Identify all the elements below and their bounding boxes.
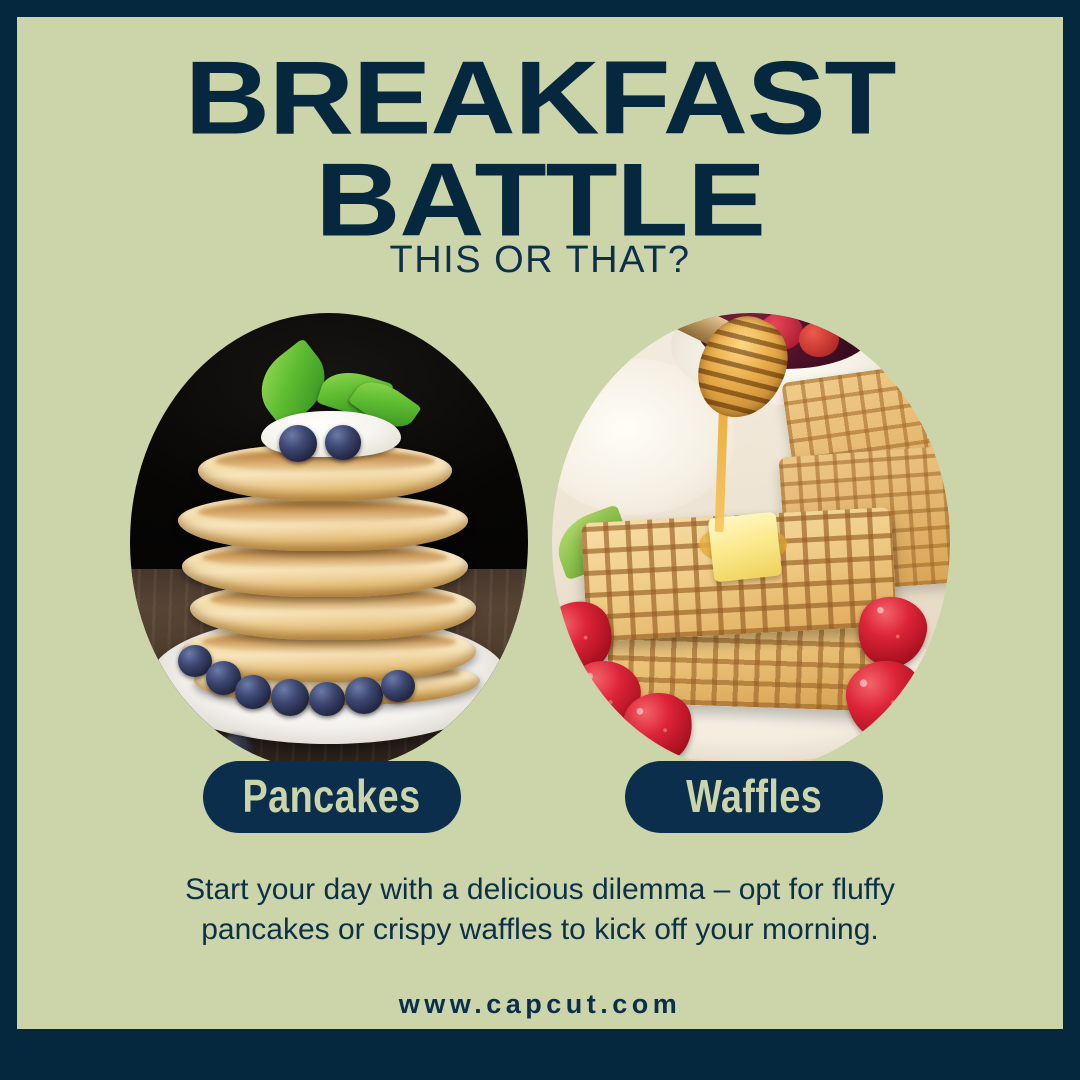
website-url: www.capcut.com (17, 989, 1063, 1020)
pancakes-label-text: Pancakes (243, 771, 421, 824)
pancakes-label-pill[interactable]: Pancakes (203, 761, 461, 833)
pancake-layer (178, 494, 469, 551)
blueberry (309, 682, 345, 716)
blueberry (325, 425, 361, 459)
blueberry (279, 425, 317, 462)
waffles-label-text: Waffles (686, 771, 822, 824)
poster-canvas: BREAKFAST BATTLE THIS OR THAT? (0, 0, 1080, 1080)
blueberry (345, 677, 383, 714)
waffles-label-pill[interactable]: Waffles (625, 761, 883, 833)
blueberry (381, 670, 415, 702)
pancakes-photo (130, 313, 528, 771)
headline: BREAKFAST BATTLE (17, 55, 1063, 246)
blueberry (271, 679, 309, 716)
headline-line-2: BATTLE (17, 154, 1063, 249)
waffles-photo (552, 313, 950, 771)
subtitle: THIS OR THAT? (17, 239, 1063, 282)
waffles-image (552, 313, 950, 771)
pancakes-image (130, 313, 528, 771)
mixed-berry (799, 322, 839, 356)
headline-line-1: BREAKFAST (17, 51, 1063, 146)
description-text: Start your day with a delicious dilemma … (17, 870, 1063, 949)
poster-inner-panel: BREAKFAST BATTLE THIS OR THAT? (17, 17, 1063, 1029)
